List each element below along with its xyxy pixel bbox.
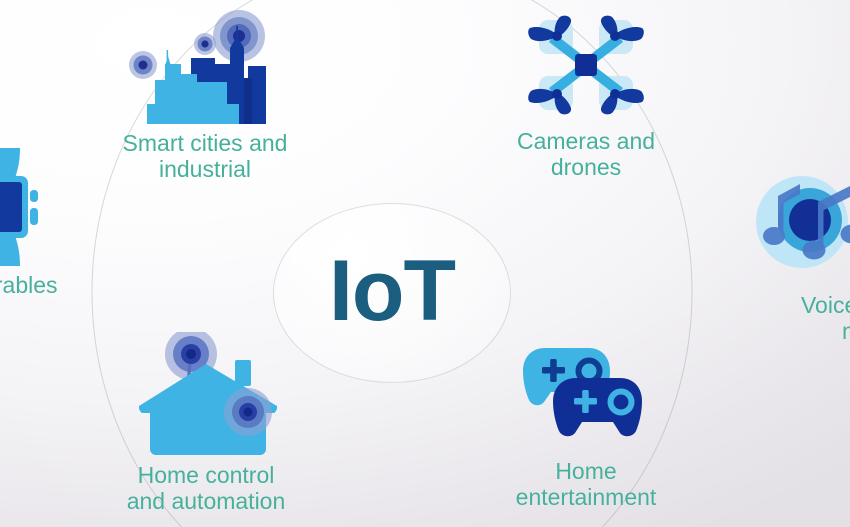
iot-center-label: IoT	[329, 248, 455, 334]
smart-cities-icon-wrap	[129, 8, 281, 124]
cameras-drones-icon-wrap	[527, 8, 645, 122]
city-skyline-with-antenna-icon	[129, 8, 281, 124]
house-with-antenna-icon	[131, 332, 281, 456]
node-wearables-label: Wearables	[0, 272, 63, 298]
music-notes-icon	[756, 168, 850, 286]
infographic-canvas: IoT	[0, 0, 850, 527]
quadcopter-drone-icon	[527, 8, 645, 122]
home-control-icon-wrap	[131, 332, 281, 456]
node-cameras-drones-label: Cameras and drones	[517, 128, 655, 180]
node-home-entertainment[interactable]: Home entertainment	[496, 342, 676, 510]
node-voice-music[interactable]: Voice and music	[752, 168, 850, 344]
node-home-control-label: Home control and automation	[127, 462, 286, 514]
home-entertainment-icon-wrap	[521, 342, 651, 452]
game-controllers-icon	[521, 342, 651, 452]
node-home-control[interactable]: Home control and automation	[100, 332, 312, 514]
node-voice-music-label: Voice and music	[752, 292, 850, 344]
node-smart-cities[interactable]: Smart cities and industrial	[100, 8, 310, 182]
voice-music-icon-wrap	[756, 168, 850, 286]
node-cameras-drones[interactable]: Cameras and drones	[492, 8, 680, 180]
smartwatch-icon	[0, 148, 60, 266]
node-wearables[interactable]: Wearables	[0, 148, 63, 298]
node-smart-cities-label: Smart cities and industrial	[123, 130, 288, 182]
wearables-icon-wrap	[0, 148, 60, 266]
node-home-entertainment-label: Home entertainment	[516, 458, 657, 510]
